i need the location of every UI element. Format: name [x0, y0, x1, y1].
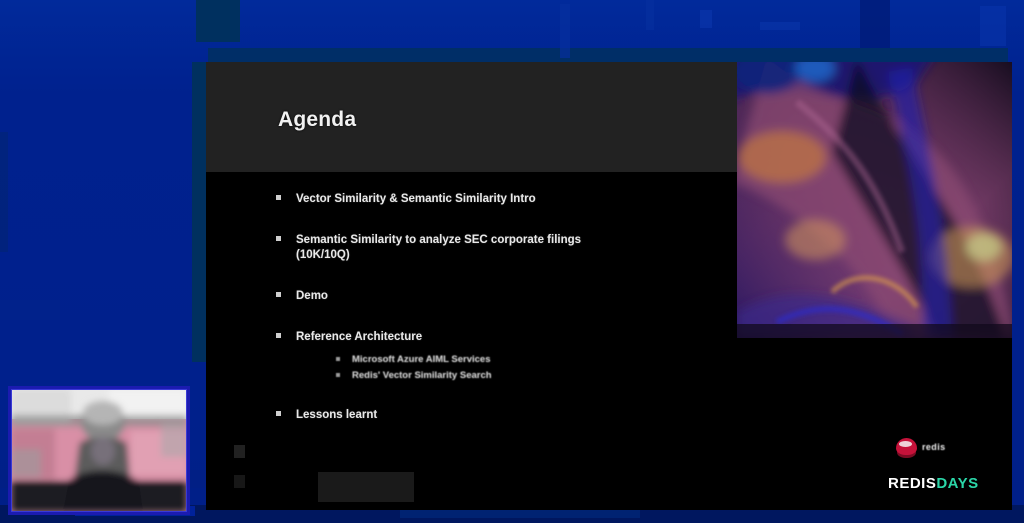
redisdays-brand: REDISDAYS: [888, 475, 979, 492]
backdrop-artifact: [700, 10, 712, 28]
video-call-screenshare-stage: Agenda: [0, 0, 1024, 523]
hero-image: [737, 62, 1012, 338]
redis-wordmark-label: redis: [922, 442, 946, 452]
backdrop-artifact: [0, 132, 8, 252]
backdrop-artifact: [860, 0, 890, 48]
backdrop-artifact: [646, 0, 654, 30]
backdrop-artifact: [196, 0, 240, 42]
backdrop-artifact: [760, 22, 800, 30]
bullet-text: Demo: [296, 290, 328, 302]
redis-wordmark: redis: [896, 438, 946, 455]
backdrop-artifact: [980, 6, 1006, 46]
bullet-text-line2: (10K/10Q): [296, 248, 742, 263]
bullet-text: Reference Architecture: [296, 331, 422, 343]
sub-bullet-text: Redis' Vector Similarity Search: [352, 370, 492, 381]
page-title: Agenda: [278, 108, 356, 132]
sub-list-item: Redis' Vector Similarity Search: [334, 369, 742, 382]
sub-bullet-text: Microsoft Azure AIML Services: [352, 354, 491, 365]
shared-slide[interactable]: Agenda: [206, 62, 1012, 510]
webcam-self-view-tile[interactable]: [8, 386, 190, 515]
compression-artifact: [318, 472, 414, 502]
backdrop-artifact: [0, 300, 60, 320]
redis-cube-icon: [896, 438, 917, 455]
sub-list-item: Microsoft Azure AIML Services: [334, 353, 742, 366]
compression-artifact: [234, 475, 245, 488]
bullet-text: Semantic Similarity to analyze SEC corpo…: [296, 234, 581, 246]
compression-artifact: [234, 445, 245, 458]
agenda-sub-bullet-list: Microsoft Azure AIML Services Redis' Vec…: [296, 353, 742, 382]
agenda-bullet-list: Vector Similarity & Semantic Similarity …: [272, 192, 742, 449]
redisdays-logo: redis REDISDAYS: [888, 438, 998, 492]
brand-primary: REDIS: [888, 475, 936, 492]
backdrop-artifact: [208, 48, 1008, 62]
brand-secondary: DAYS: [936, 475, 978, 492]
bullet-text: Lessons learnt: [296, 409, 377, 421]
list-item: Reference Architecture Microsoft Azure A…: [272, 330, 742, 382]
list-item: Demo: [272, 289, 742, 304]
list-item: Vector Similarity & Semantic Similarity …: [272, 192, 742, 207]
backdrop-artifact: [560, 4, 570, 58]
bullet-text: Vector Similarity & Semantic Similarity …: [296, 193, 536, 205]
list-item: Semantic Similarity to analyze SEC corpo…: [272, 233, 742, 263]
list-item: Lessons learnt: [272, 408, 742, 423]
